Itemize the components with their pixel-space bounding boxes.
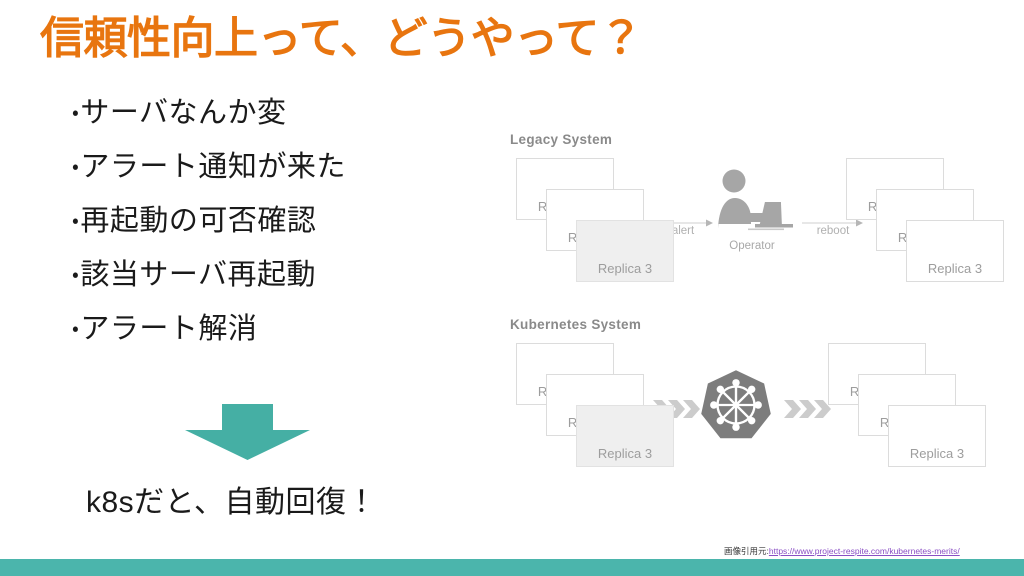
legacy-system-section: Legacy System Replica 1 Replica 2 Replic… xyxy=(496,120,1016,305)
kubernetes-system-title: Kubernetes System xyxy=(510,317,641,332)
system-comparison-diagram: Legacy System Replica 1 Replica 2 Replic… xyxy=(496,120,1016,520)
list-item: ・サーバなんか変 xyxy=(72,86,472,140)
table-row: Replica 3 xyxy=(888,405,986,467)
bullet-mark: ・ xyxy=(72,210,79,232)
list-item-label: 再起動の可否確認 xyxy=(80,205,316,237)
list-item-label: サーバなんか変 xyxy=(80,97,286,129)
conclusion-text: k8sだと、自動回復！ xyxy=(86,483,377,523)
legacy-system-title: Legacy System xyxy=(510,132,612,147)
list-item-label: 該当サーバ再起動 xyxy=(80,259,316,291)
legacy-before-replica-stack: Replica 1 Replica 2 Replica 3 xyxy=(516,158,666,283)
operator-label: Operator xyxy=(706,240,798,252)
list-item-label: アラート解消 xyxy=(80,313,257,345)
operator-figure: Operator xyxy=(706,166,798,252)
list-item-label: アラート通知が来た xyxy=(80,151,346,183)
replica-label: Replica 3 xyxy=(577,446,673,461)
image-credit: 画像引用元:https://www.project-respite.com/ku… xyxy=(724,545,960,557)
bullet-mark: ・ xyxy=(72,156,79,178)
credit-prefix: 画像引用元: xyxy=(724,546,769,556)
list-item: ・該当サーバ再起動 xyxy=(72,248,472,302)
credit-link[interactable]: https://www.project-respite.com/kubernet… xyxy=(769,546,960,556)
kubernetes-helm-logo xyxy=(699,368,773,442)
page-title: 信頼性向上って、どうやって？ xyxy=(40,8,740,70)
triple-chevron-right-icon-out xyxy=(784,398,834,420)
bullet-mark: ・ xyxy=(72,264,79,286)
table-row: Replica 3 xyxy=(576,405,674,467)
table-row: Replica 3 xyxy=(576,220,674,282)
kubernetes-system-section: Kubernetes System Replica 1 Replica 2 Re… xyxy=(496,305,1016,485)
bottom-accent-bar xyxy=(0,559,1024,576)
replica-label: Replica 3 xyxy=(889,446,985,461)
k8s-after-replica-stack: Replica 1 Replica 2 Replica 3 xyxy=(828,343,978,468)
bullet-list: ・サーバなんか変 ・アラート通知が来た ・再起動の可否確認 ・該当サーバ再起動 … xyxy=(72,86,472,356)
down-arrow-icon xyxy=(185,404,310,460)
replica-label: Replica 3 xyxy=(577,261,673,276)
replica-label: Replica 3 xyxy=(907,261,1003,276)
legacy-after-replica-stack: Replica 1 Replica 2 Replica 3 xyxy=(846,158,996,283)
left-column: ・サーバなんか変 ・アラート通知が来た ・再起動の可否確認 ・該当サーバ再起動 … xyxy=(72,86,472,356)
operator-at-laptop-icon xyxy=(706,166,798,238)
list-item: ・再起動の可否確認 xyxy=(72,194,472,248)
list-item: ・アラート解消 xyxy=(72,302,472,356)
bullet-mark: ・ xyxy=(72,318,79,340)
list-item: ・アラート通知が来た xyxy=(72,140,472,194)
k8s-before-replica-stack: Replica 1 Replica 2 Replica 3 xyxy=(516,343,666,468)
table-row: Replica 3 xyxy=(906,220,1004,282)
bullet-mark: ・ xyxy=(72,102,79,124)
slide-canvas: 信頼性向上って、どうやって？ ・サーバなんか変 ・アラート通知が来た ・再起動の… xyxy=(0,0,1024,576)
